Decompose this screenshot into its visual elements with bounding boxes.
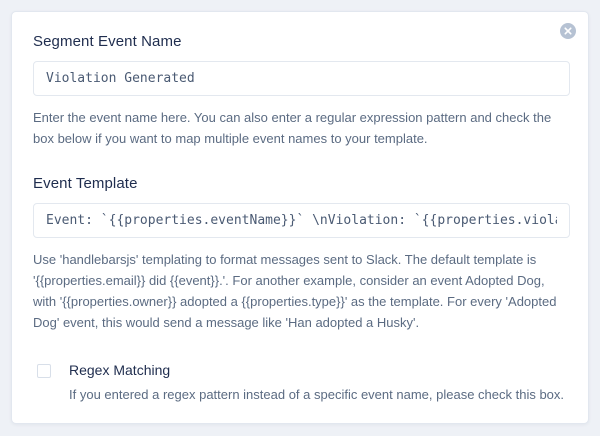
regex-matching-help: If you entered a regex pattern instead o… (69, 384, 564, 405)
segment-event-name-field: Segment Event Name Enter the event name … (33, 32, 567, 149)
segment-event-modal: Segment Event Name Enter the event name … (11, 11, 589, 424)
regex-matching-checkbox[interactable] (37, 364, 51, 378)
regex-matching-label[interactable]: Regex Matching (69, 361, 564, 380)
segment-event-name-input[interactable] (33, 61, 570, 96)
modal-body: Segment Event Name Enter the event name … (33, 32, 567, 405)
event-template-input[interactable] (33, 203, 570, 238)
regex-matching-text: Regex Matching If you entered a regex pa… (69, 361, 564, 405)
segment-event-name-help: Enter the event name here. You can also … (33, 107, 567, 149)
event-template-label: Event Template (33, 174, 567, 194)
segment-event-name-label: Segment Event Name (33, 32, 567, 52)
regex-matching-field: Regex Matching If you entered a regex pa… (33, 361, 567, 405)
event-template-field: Event Template Use 'handlebarsjs' templa… (33, 174, 567, 333)
event-template-help: Use 'handlebarsjs' templating to format … (33, 249, 567, 333)
